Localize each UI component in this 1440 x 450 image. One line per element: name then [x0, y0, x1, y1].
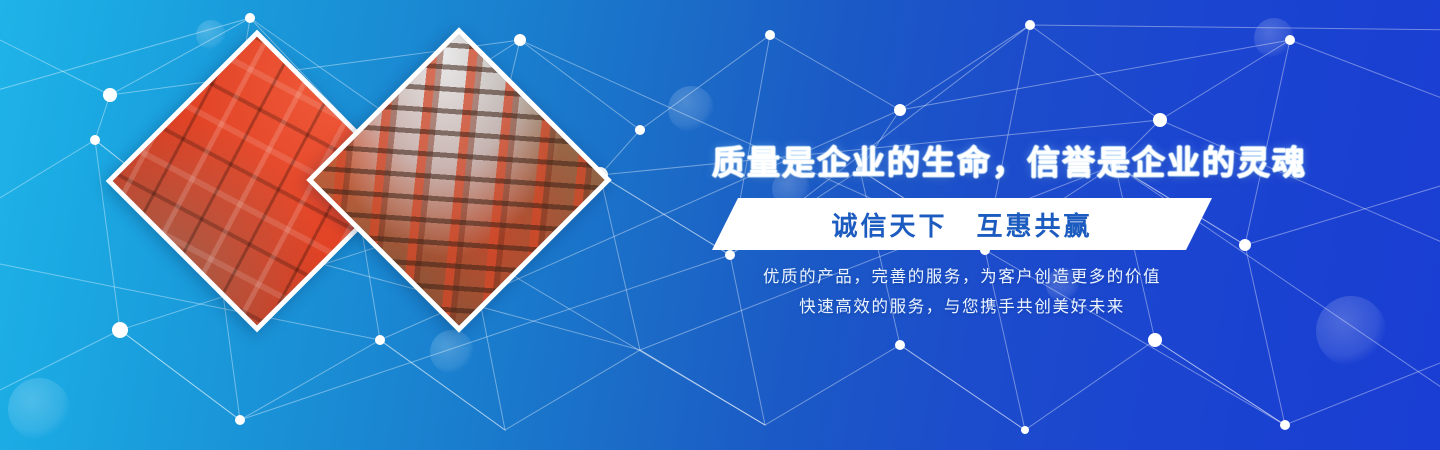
- bokeh-circle: [668, 86, 714, 132]
- drive-shafts-image: [306, 27, 611, 332]
- bokeh-circle: [196, 20, 226, 50]
- photo-inner: [306, 27, 611, 332]
- bokeh-circle: [1316, 296, 1386, 366]
- product-photo-drive-shafts[interactable]: [306, 27, 611, 332]
- banner-subtitles: 优质的产品，完善的服务，为客户创造更多的价值 快速高效的服务，与您携手共创美好未…: [712, 262, 1212, 322]
- subtitle-line-2: 快速高效的服务，与您携手共创美好未来: [712, 292, 1212, 322]
- slogan-bar-text: 诚信天下 互惠共赢: [831, 206, 1092, 243]
- bokeh-circle: [8, 378, 70, 440]
- subtitle-line-1: 优质的产品，完善的服务，为客户创造更多的价值: [712, 262, 1212, 292]
- bokeh-circle: [430, 330, 474, 374]
- bokeh-circle: [1254, 18, 1294, 58]
- promo-banner: 质量是企业的生命，信誉是企业的灵魂 诚信天下 互惠共赢 优质的产品，完善的服务，…: [0, 0, 1440, 450]
- banner-headline: 质量是企业的生命，信誉是企业的灵魂: [712, 136, 1252, 184]
- slogan-bar: 诚信天下 互惠共赢: [712, 198, 1212, 250]
